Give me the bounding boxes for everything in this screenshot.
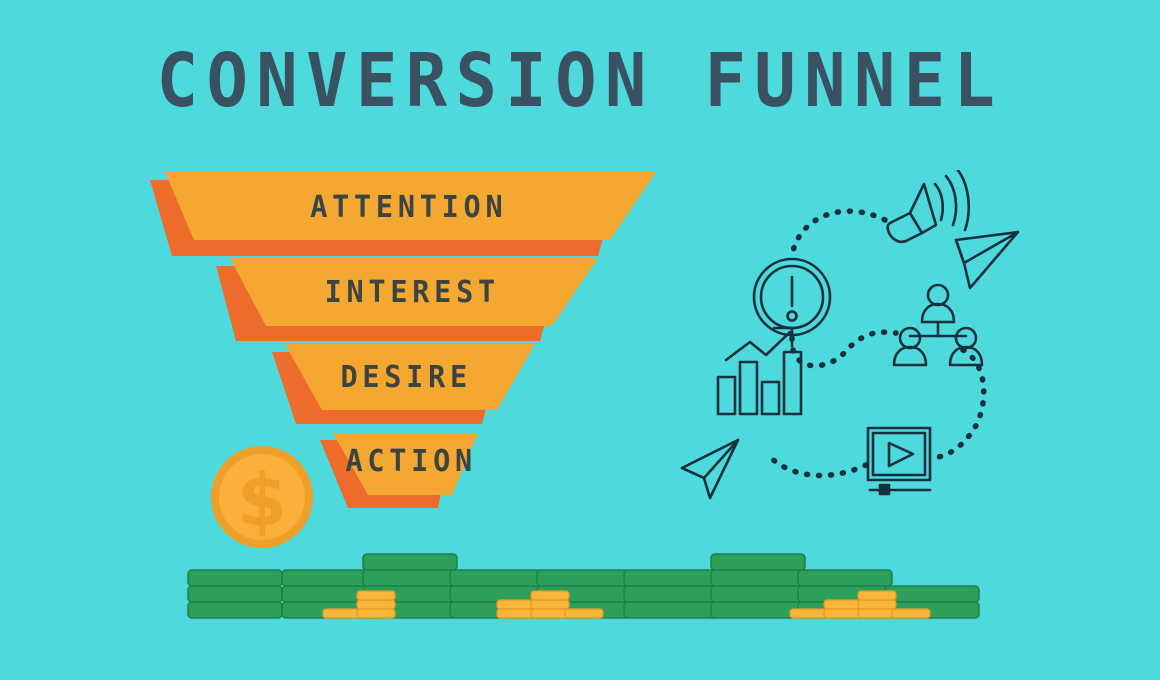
money-bill	[282, 570, 376, 586]
dotted-path-4	[768, 455, 866, 475]
money-stacks-svg	[0, 520, 1160, 630]
coin-stack-slice	[357, 609, 395, 618]
alert-circle-icon[interactable]	[754, 259, 830, 335]
coin-stack-slice	[565, 609, 603, 618]
icon-cluster-svg	[670, 170, 1050, 510]
conversion-funnel-infographic: CONVERSION FUNNEL	[0, 0, 1160, 680]
coin-stack-slice	[497, 609, 535, 618]
coin-stack-slice	[892, 609, 930, 618]
money-bill	[188, 602, 282, 618]
coin-stack-slice	[858, 600, 896, 609]
money-bill	[624, 586, 718, 602]
network-users-icon[interactable]	[894, 285, 982, 365]
money-bill	[624, 570, 718, 586]
coin-stack-slice	[858, 609, 896, 618]
coin-stack-slice	[531, 609, 569, 618]
money-bill	[711, 554, 805, 570]
megaphone-icon[interactable]	[888, 170, 969, 242]
coin-stack-slice	[824, 609, 862, 618]
funnel-label-interest: INTEREST	[325, 278, 500, 308]
money-bill	[450, 570, 544, 586]
funnel-label-desire: DESIRE	[340, 363, 471, 393]
money-bill	[188, 586, 282, 602]
money-bill	[363, 554, 457, 570]
coin-stack-slice	[824, 600, 862, 609]
coin-stack-slice	[323, 609, 361, 618]
coin-stack-slice	[531, 600, 569, 609]
coin-stack-slice	[790, 609, 828, 618]
money-bill	[798, 570, 892, 586]
money-bill	[885, 586, 979, 602]
funnel-label-action: ACTION	[345, 447, 476, 477]
money-bill	[188, 570, 282, 586]
bar-chart-growth-icon[interactable]	[718, 328, 801, 414]
coin-stack-slice	[357, 591, 395, 600]
coin-stack-slice	[858, 591, 896, 600]
dotted-path-2	[792, 332, 896, 366]
coin-stack-slice	[357, 600, 395, 609]
money-bill	[624, 602, 718, 618]
paper-plane-icon-2[interactable]	[682, 440, 738, 498]
money-bill	[363, 570, 457, 586]
coin-stack-slice	[531, 591, 569, 600]
dotted-path	[792, 211, 885, 255]
marketing-icon-cluster	[670, 170, 1050, 510]
coin-stack-slice	[497, 600, 535, 609]
money-bill	[537, 570, 631, 586]
video-player-icon[interactable]	[868, 428, 930, 494]
money-bill	[711, 570, 805, 586]
paper-plane-icon[interactable]	[956, 232, 1018, 288]
funnel-graphic: $ ATTENTION INTEREST DESIRE ACTION	[0, 0, 700, 560]
funnel-label-attention: ATTENTION	[310, 193, 507, 223]
money-bill	[711, 586, 805, 602]
money-stacks	[0, 520, 1160, 630]
